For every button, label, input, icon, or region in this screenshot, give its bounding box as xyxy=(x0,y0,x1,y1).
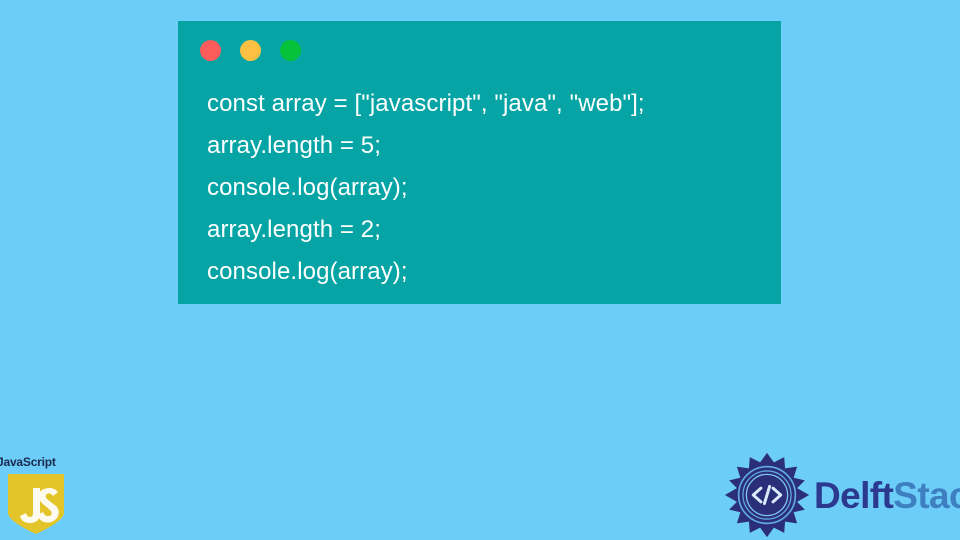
brand-name-second: Stack xyxy=(893,475,960,516)
javascript-badge: JavaScript xyxy=(0,455,78,535)
code-line: const array = ["javascript", "java", "we… xyxy=(207,83,773,125)
delftstack-logo: DelftStack xyxy=(724,452,960,538)
code-line: array.length = 5; xyxy=(207,125,773,167)
code-block: const array = ["javascript", "java", "we… xyxy=(207,83,773,293)
code-line: console.log(array); xyxy=(207,167,773,209)
minimize-window-dot-icon[interactable] xyxy=(240,40,261,61)
delftstack-wordmark: DelftStack xyxy=(814,477,960,514)
code-line: console.log(array); xyxy=(207,251,773,293)
close-window-dot-icon[interactable] xyxy=(200,40,221,61)
delftstack-mandala-icon xyxy=(724,452,810,538)
javascript-logo-icon xyxy=(6,473,66,535)
code-snippet-card: const array = ["javascript", "java", "we… xyxy=(178,21,781,304)
javascript-label: JavaScript xyxy=(0,455,78,469)
code-line: array.length = 2; xyxy=(207,209,773,251)
maximize-window-dot-icon[interactable] xyxy=(280,40,301,61)
window-controls xyxy=(200,40,301,61)
brand-name-first: Delft xyxy=(814,475,893,516)
